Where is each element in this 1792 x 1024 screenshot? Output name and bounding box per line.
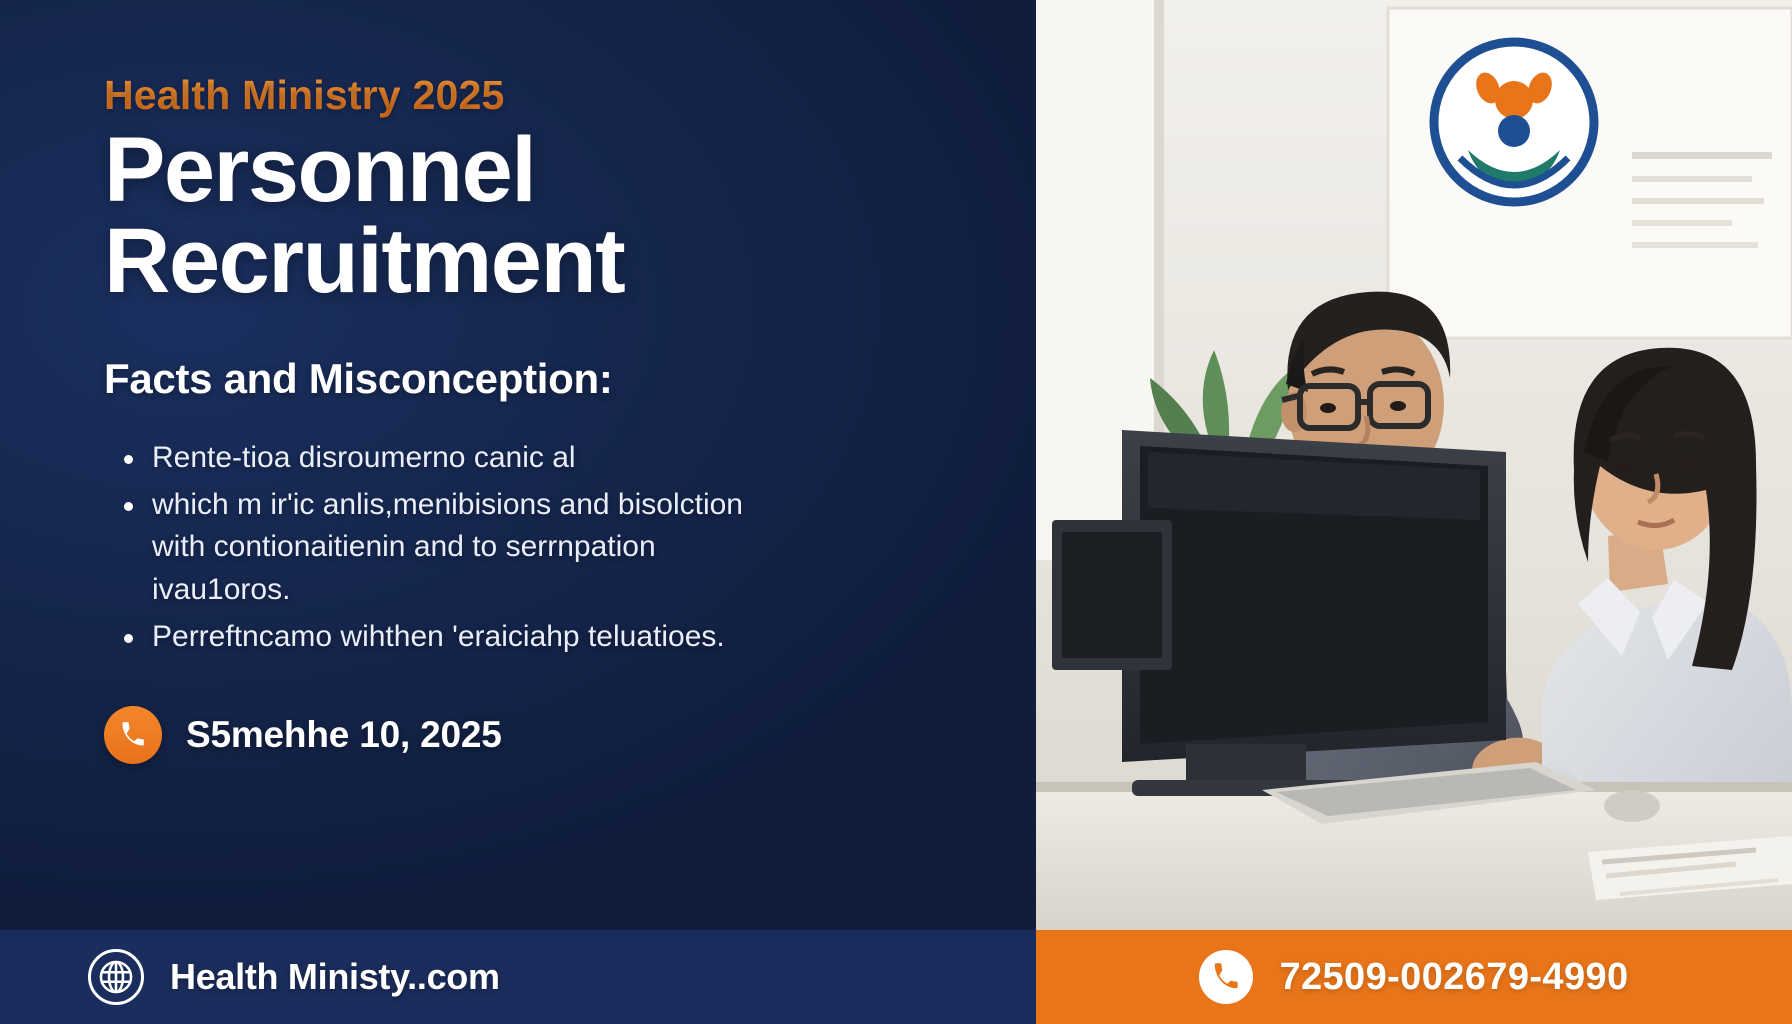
page-title-line-1: Personnel <box>104 125 924 216</box>
footer-phone-section[interactable]: 72509-002679-4990 <box>1036 930 1792 1024</box>
office-photo <box>1036 0 1792 930</box>
left-content-panel: Health Ministry 2025 Personnel Recruitme… <box>0 0 1036 1024</box>
footer-bar: Health Ministy..com 72509-002679-4990 <box>0 930 1792 1024</box>
recruitment-poster: Health Ministry 2025 Personnel Recruitme… <box>0 0 1792 1024</box>
computer-monitor <box>1122 430 1506 796</box>
phone-number-text[interactable]: 72509-002679-4990 <box>1279 956 1628 999</box>
phone-icon <box>104 706 162 764</box>
page-title-line-2: Recruitment <box>104 216 924 307</box>
facts-bullet-list: Rente-tioa disroumerno canic al which m … <box>104 437 924 658</box>
list-item: Perreftncamo wihthen 'eraiciahp teluatio… <box>104 616 764 659</box>
list-item: which m ir'ic anlis,menibisions and biso… <box>104 484 764 612</box>
phone-icon <box>1199 950 1253 1004</box>
section-subheading: Facts and Misconception: <box>104 355 924 403</box>
left-panel-inner: Health Ministry 2025 Personnel Recruitme… <box>104 72 924 764</box>
globe-icon <box>88 949 144 1005</box>
list-item: Rente-tioa disroumerno canic al <box>104 437 764 480</box>
event-date-text: S5mehhe 10, 2025 <box>186 714 502 756</box>
website-text[interactable]: Health Ministy..com <box>170 956 500 998</box>
page-title: Personnel Recruitment <box>104 125 924 307</box>
event-date-row: S5mehhe 10, 2025 <box>104 706 924 764</box>
footer-website-section[interactable]: Health Ministy..com <box>0 930 1036 1024</box>
secondary-monitor <box>1052 520 1172 670</box>
eyebrow-label: Health Ministry 2025 <box>104 72 924 119</box>
